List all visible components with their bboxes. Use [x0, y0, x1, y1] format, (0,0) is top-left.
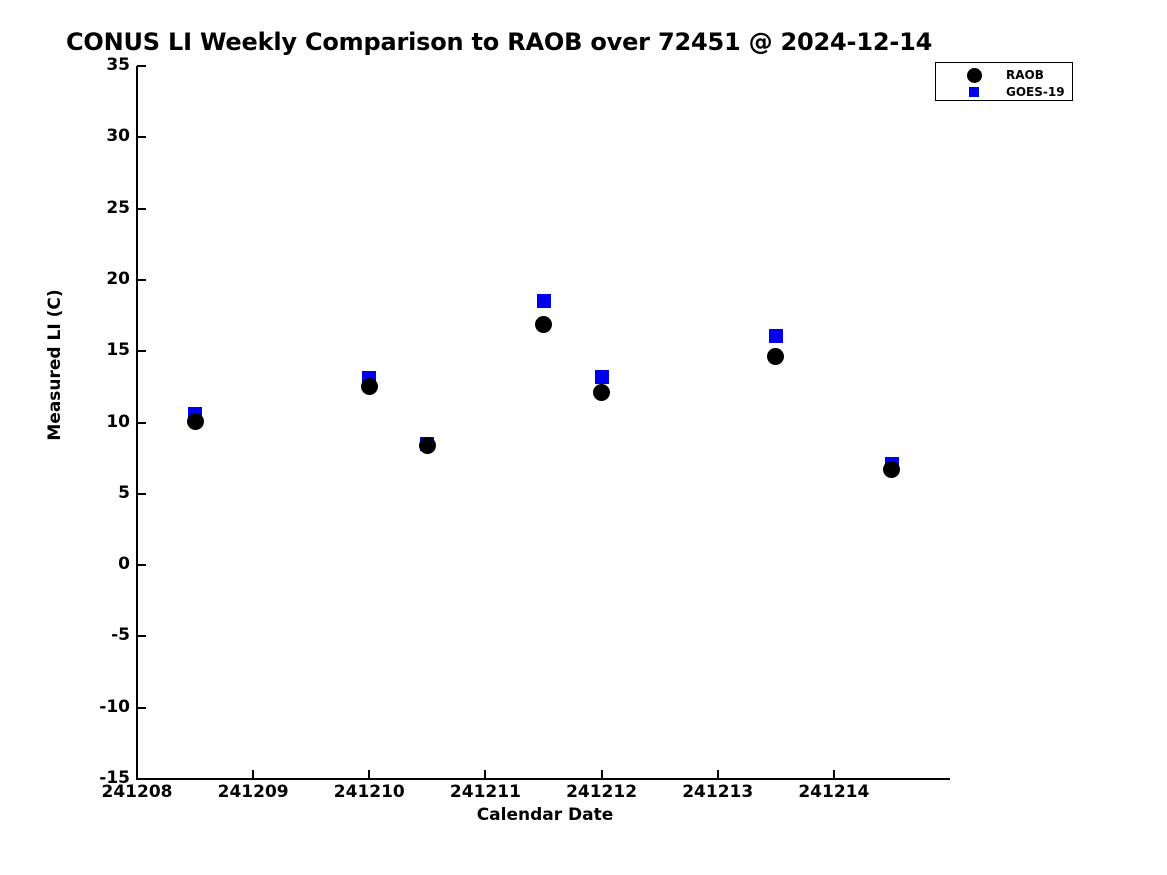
x-tick-label: 241214: [774, 783, 894, 802]
x-tick-label: 241209: [193, 783, 313, 802]
data-point-raob: [361, 378, 378, 395]
y-tick-label: 15: [106, 342, 130, 359]
x-tick-label-wrap: 241208: [77, 783, 197, 805]
data-point-goes-19: [595, 370, 609, 384]
chart-figure: CONUS LI Weekly Comparison to RAOB over …: [0, 0, 1167, 875]
x-tick-label-wrap: 241214: [774, 783, 894, 805]
y-tick-label-wrap: 10: [76, 414, 130, 432]
y-axis-title: Measured LI (C): [45, 255, 65, 475]
y-tick-label: 35: [106, 57, 130, 74]
x-tick-label-wrap: 241210: [309, 783, 429, 805]
y-tick-label-wrap: 30: [76, 128, 130, 146]
data-point-raob: [593, 384, 610, 401]
y-tick-label: -5: [111, 627, 130, 644]
y-tick-label: 10: [106, 414, 130, 431]
data-point-raob: [535, 316, 552, 333]
y-tick-label-wrap: 20: [76, 271, 130, 289]
legend-item: RAOB: [936, 66, 1072, 84]
x-tick-label: 241211: [425, 783, 545, 802]
y-tick-label: 25: [106, 200, 130, 217]
y-tick-label-wrap: 15: [76, 342, 130, 360]
y-tick-label-wrap: 5: [76, 485, 130, 503]
y-tick-label: -10: [99, 699, 130, 716]
y-tick-label-wrap: 35: [76, 57, 130, 75]
legend-square-icon: [964, 83, 984, 101]
x-tick-label: 241213: [658, 783, 778, 802]
y-tick-label: 20: [106, 271, 130, 288]
legend-item: GOES-19: [936, 83, 1072, 101]
y-tick-label-wrap: 25: [76, 200, 130, 218]
page-title: CONUS LI Weekly Comparison to RAOB over …: [66, 28, 932, 56]
plot-area: [137, 66, 950, 779]
data-point-raob: [883, 461, 900, 478]
x-tick-label-wrap: 241213: [658, 783, 778, 805]
x-tick-label-wrap: 241212: [542, 783, 662, 805]
y-tick-label: 5: [118, 485, 130, 502]
x-axis-title: Calendar Date: [0, 805, 1090, 825]
data-point-goes-19: [769, 329, 783, 343]
data-point-raob: [419, 437, 436, 454]
x-tick-label-wrap: 241211: [425, 783, 545, 805]
data-point-raob: [767, 348, 784, 365]
legend: RAOBGOES-19: [935, 62, 1073, 101]
y-tick-label: 30: [106, 128, 130, 145]
x-tick-label: 241210: [309, 783, 429, 802]
x-tick-label: 241212: [542, 783, 662, 802]
legend-label: RAOB: [1006, 68, 1044, 82]
y-tick-label: 0: [118, 556, 130, 573]
x-tick-label-wrap: 241209: [193, 783, 313, 805]
y-tick-label-wrap: -10: [76, 699, 130, 717]
legend-circle-icon: [964, 66, 984, 84]
legend-label: GOES-19: [1006, 85, 1065, 99]
data-point-raob: [187, 413, 204, 430]
y-tick-label-wrap: 0: [76, 556, 130, 574]
data-point-goes-19: [537, 294, 551, 308]
x-tick-label: 241208: [77, 783, 197, 802]
y-tick-label-wrap: -5: [76, 627, 130, 645]
